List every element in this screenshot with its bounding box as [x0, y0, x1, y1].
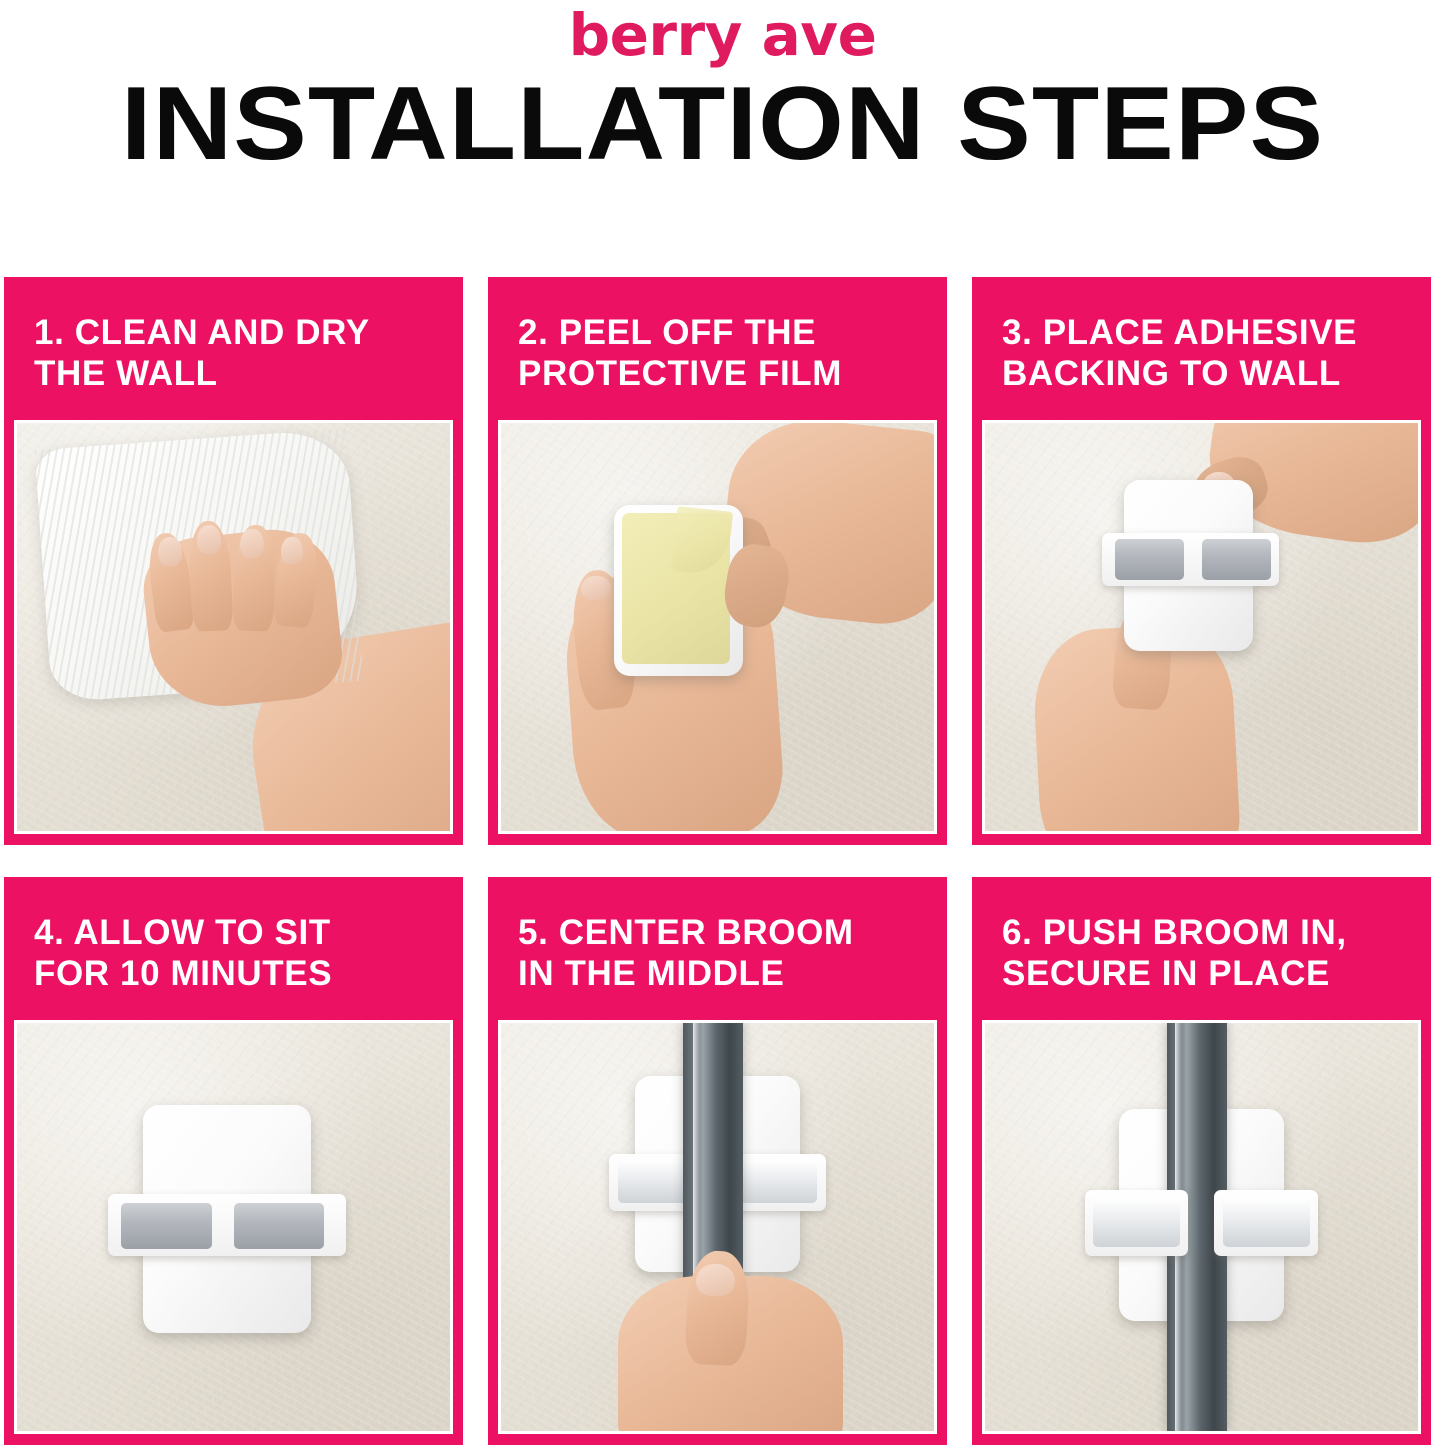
step-header-5: 5. CENTER BROOM IN THE MIDDLE [488, 877, 947, 1020]
step-photo-1 [14, 420, 453, 834]
step-card-4: 4. ALLOW TO SIT FOR 10 MINUTES [4, 877, 463, 1445]
step-header-3: 3. PLACE ADHESIVE BACKING TO WALL [972, 277, 1431, 420]
roller-right [1202, 539, 1271, 580]
roller-right [1223, 1198, 1310, 1247]
nail-thumb [696, 1264, 735, 1297]
step-title-6: 6. PUSH BROOM IN, SECURE IN PLACE [1002, 913, 1403, 995]
installation-steps-grid: 1. CLEAN AND DRY THE WALL 2. PEEL OF [4, 277, 1441, 1445]
roller-right [739, 1160, 817, 1203]
step-card-1: 1. CLEAN AND DRY THE WALL [4, 277, 463, 845]
roller-left [1115, 539, 1184, 580]
step-title-4: 4. ALLOW TO SIT FOR 10 MINUTES [34, 913, 435, 995]
step-header-6: 6. PUSH BROOM IN, SECURE IN PLACE [972, 877, 1431, 1020]
step-photo-2 [498, 420, 937, 834]
step-card-5: 5. CENTER BROOM IN THE MIDDLE [488, 877, 947, 1445]
step-title-2: 2. PEEL OFF THE PROTECTIVE FILM [518, 313, 919, 395]
roller-left [1093, 1198, 1180, 1247]
step-title-3: 3. PLACE ADHESIVE BACKING TO WALL [1002, 313, 1403, 395]
step-title-1: 1. CLEAN AND DRY THE WALL [34, 313, 435, 395]
roller-left [121, 1203, 212, 1250]
step-header-2: 2. PEEL OFF THE PROTECTIVE FILM [488, 277, 947, 420]
step-header-1: 1. CLEAN AND DRY THE WALL [4, 277, 463, 420]
page-title: INSTALLATION STEPS [0, 72, 1445, 192]
step-photo-4 [14, 1020, 453, 1434]
step-card-2: 2. PEEL OFF THE PROTECTIVE FILM [488, 277, 947, 845]
step-card-3: 3. PLACE ADHESIVE BACKING TO WALL [972, 277, 1431, 845]
step-photo-5 [498, 1020, 937, 1434]
step-photo-6 [982, 1020, 1421, 1434]
brand-logo: berry ave [569, 6, 877, 64]
nail-ring [240, 529, 264, 558]
step-photo-3 [982, 420, 1421, 834]
nail-pinky [281, 537, 303, 564]
step-title-5: 5. CENTER BROOM IN THE MIDDLE [518, 913, 919, 995]
nail-index [158, 537, 182, 566]
roller-right [234, 1203, 325, 1250]
brand-header: berry ave [0, 0, 1445, 72]
nail-middle [197, 525, 221, 554]
step-header-4: 4. ALLOW TO SIT FOR 10 MINUTES [4, 877, 463, 1020]
step-card-6: 6. PUSH BROOM IN, SECURE IN PLACE [972, 877, 1431, 1445]
nail-thumb-left [581, 576, 611, 600]
